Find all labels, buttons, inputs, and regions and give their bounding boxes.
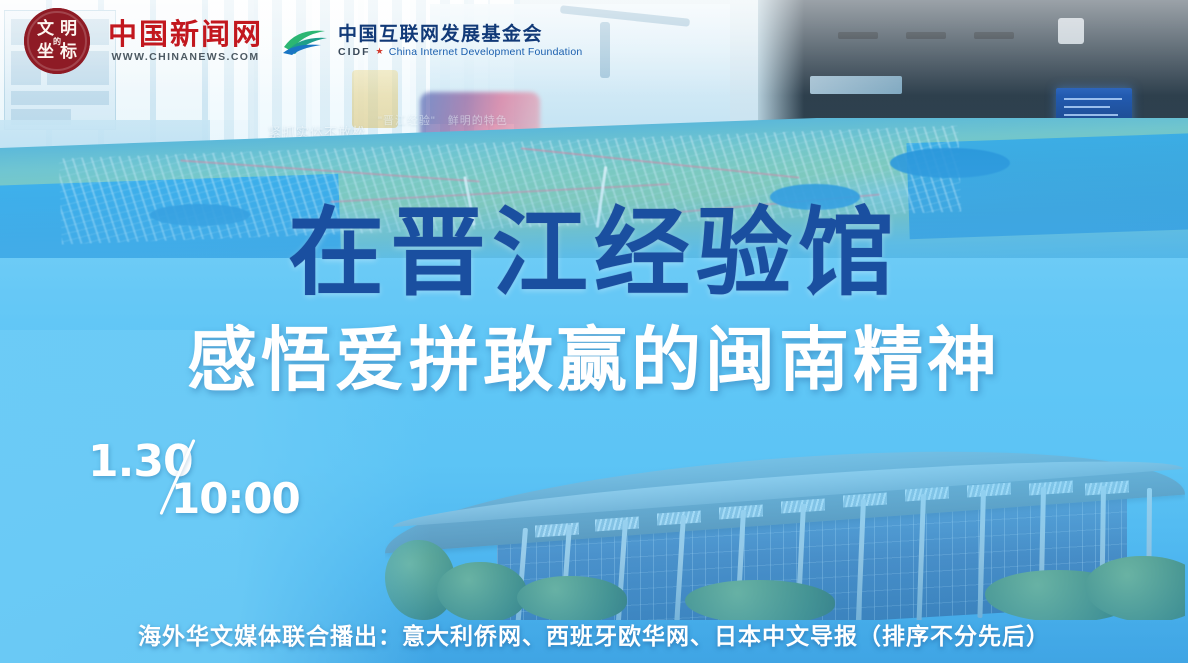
seal-char-1: 文 [37, 21, 54, 38]
cidf-logo-en: China Internet Development Foundation [389, 46, 583, 58]
broadcast-partners-note: 海外华文媒体联合播出：意大利侨网、西班牙欧华网、日本中文导报（排序不分先后） [0, 617, 1188, 651]
cidf-abbr: CIDF [338, 46, 371, 58]
chinanews-logo-zh: 中国新闻网 [108, 20, 263, 49]
chinanews-logo-url: WWW.CHINANEWS.COM [111, 51, 259, 63]
seal-char-4: 标 [60, 44, 77, 61]
broadcast-time: 10:00 [171, 478, 300, 520]
seal-char-3: 坐 [37, 44, 54, 61]
logo-bar: 文 明 坐 标 的 中国新闻网 WWW.CHINANEWS.COM 中国互联网发… [0, 0, 620, 82]
seal-char-2: 明 [60, 21, 77, 38]
chinanews-logo[interactable]: 中国新闻网 WWW.CHINANEWS.COM [108, 20, 263, 63]
hall-info-screen [810, 76, 902, 94]
cidf-wave-icon [281, 26, 329, 56]
cidf-star-icon: ★ [376, 46, 384, 57]
seal-char-small: 的 [53, 37, 61, 45]
broadcast-schedule: 1.30 10:00 [88, 440, 318, 520]
poster-subtitle: 感悟爱拼敢赢的闽南精神 [0, 325, 1188, 395]
wenming-zuobiao-seal-icon: 文 明 坐 标 的 [24, 8, 90, 74]
poster-canvas: 紧抓实体不放松 "晋江经验" 鲜明的特色 [0, 0, 1188, 663]
exhibition-building-photo [385, 430, 1185, 620]
cidf-logo[interactable]: 中国互联网发展基金会 CIDF ★ China Internet Develop… [281, 24, 582, 58]
cidf-logo-zh: 中国互联网发展基金会 [338, 24, 582, 46]
poster-main-title: 在晋江经验馆 [0, 205, 1188, 301]
